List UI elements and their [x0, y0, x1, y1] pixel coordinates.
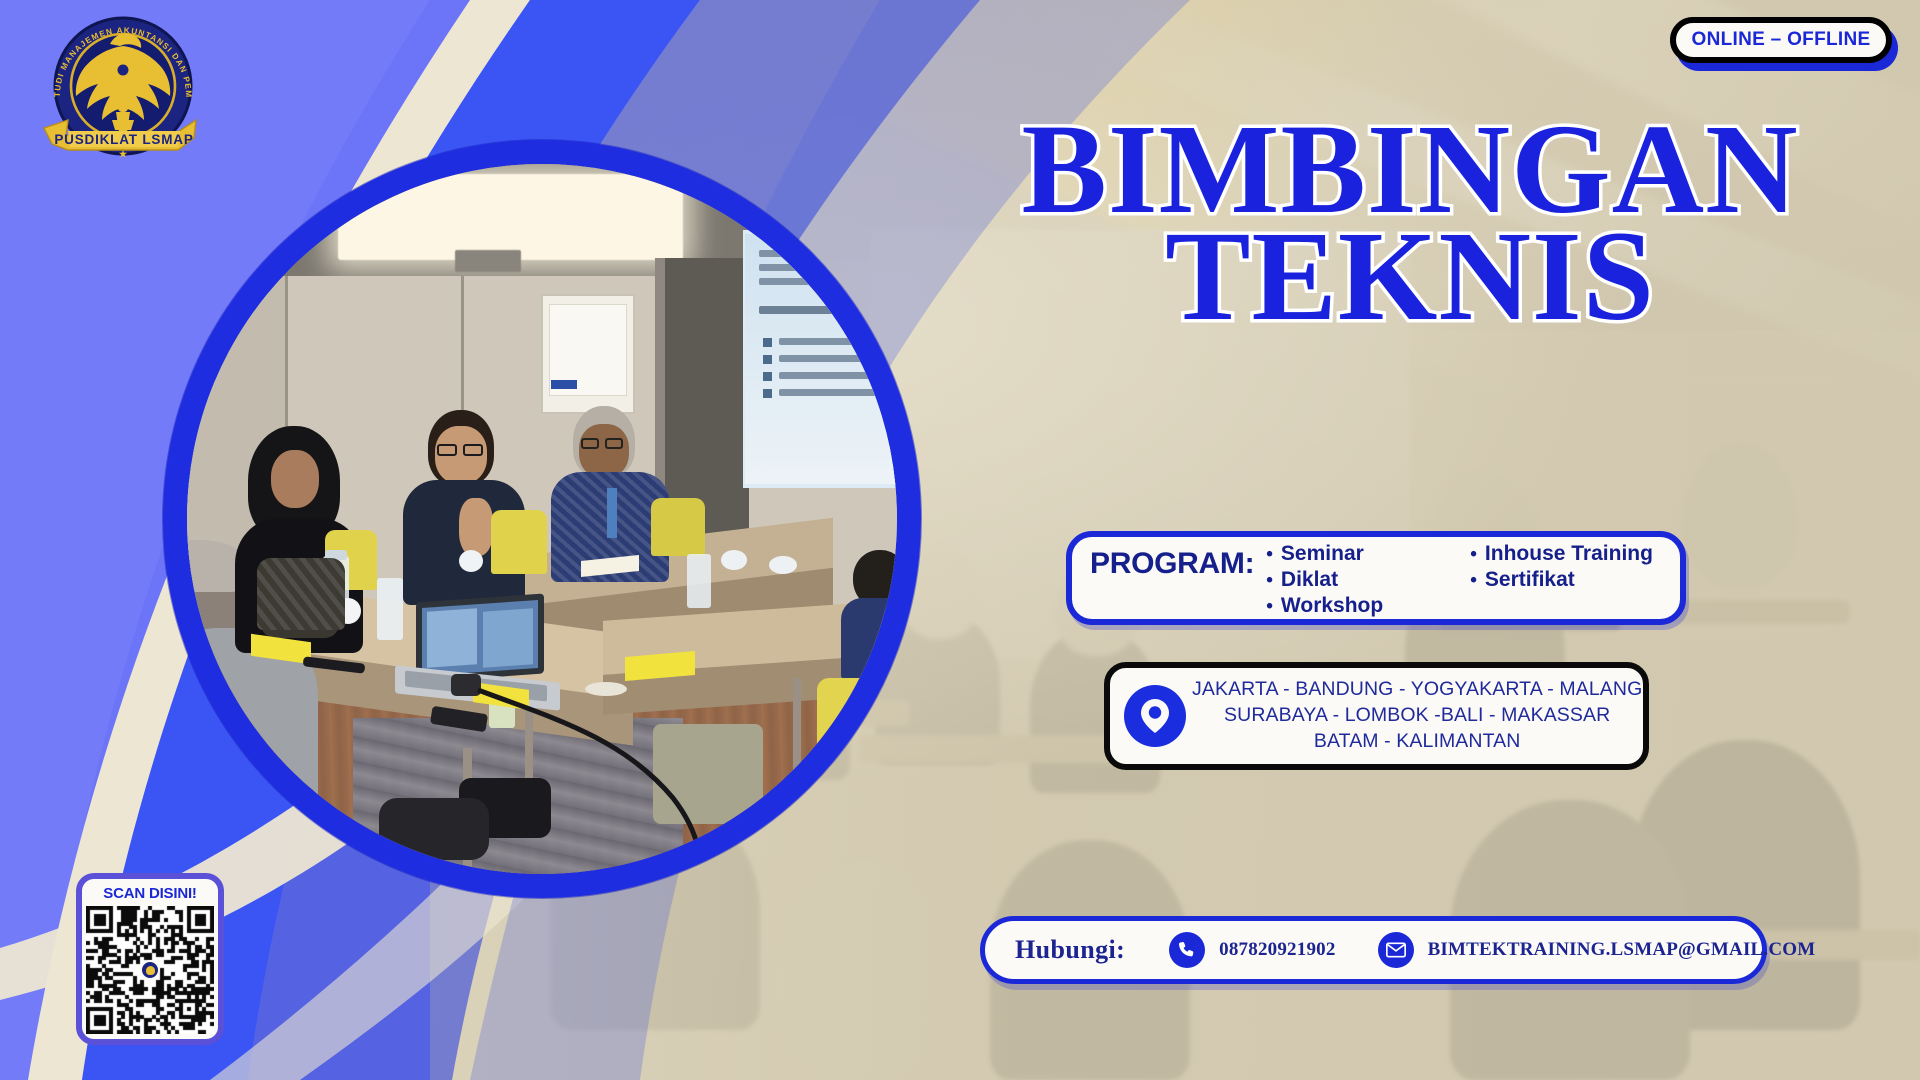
- program-item-label: Diklat: [1281, 568, 1338, 592]
- program-box: PROGRAM: • Seminar • Diklat • Workshop •: [1066, 531, 1686, 625]
- contact-email[interactable]: BIMTEKTRAINING.LSMAP@GMAIL.COM: [1378, 932, 1816, 968]
- program-item: • Sertifikat: [1470, 568, 1653, 592]
- qr-caption: SCAN DISINI!: [103, 885, 196, 902]
- envelope-icon: [1378, 932, 1414, 968]
- program-column-2: • Inhouse Training • Sertifikat: [1470, 542, 1653, 618]
- contact-bar: Hubungi: 087820921902 BIMTEKTRAINING.LSM…: [980, 916, 1767, 984]
- qr-center-logo-icon: [140, 960, 160, 980]
- badge-label: ONLINE – OFFLINE: [1692, 29, 1871, 51]
- program-item-label: Workshop: [1281, 594, 1383, 618]
- qr-card[interactable]: SCAN DISINI!: [76, 873, 224, 1045]
- program-item-label: Seminar: [1281, 542, 1364, 566]
- hero-photo: [187, 164, 897, 874]
- qr-code[interactable]: [86, 906, 214, 1034]
- bullet-icon: •: [1470, 571, 1477, 590]
- program-item: • Inhouse Training: [1470, 542, 1653, 566]
- program-item: • Workshop: [1266, 594, 1462, 618]
- phone-number: 087820921902: [1219, 939, 1335, 961]
- location-line: BATAM - KALIMANTAN: [1192, 729, 1642, 755]
- program-item-label: Inhouse Training: [1485, 542, 1653, 566]
- program-item: • Seminar: [1266, 542, 1462, 566]
- location-line: JAKARTA - BANDUNG - YOGYAKARTA - MALANG: [1192, 677, 1642, 703]
- program-item-label: Sertifikat: [1485, 568, 1575, 592]
- program-label: PROGRAM:: [1090, 547, 1254, 581]
- lsmap-logo: LEMBAGA STUDI MANAJEMEN AKUNTANSI DAN PE…: [38, 8, 208, 170]
- bullet-icon: •: [1266, 545, 1273, 564]
- hero-photo-ring: [163, 140, 921, 898]
- online-offline-badge[interactable]: ONLINE – OFFLINE: [1670, 17, 1892, 63]
- locations-box: JAKARTA - BANDUNG - YOGYAKARTA - MALANG …: [1104, 662, 1649, 770]
- bullet-icon: •: [1266, 571, 1273, 590]
- poster-canvas: LEMBAGA STUDI MANAJEMEN AKUNTANSI DAN PE…: [0, 0, 1920, 1080]
- phone-icon: [1169, 932, 1205, 968]
- contact-phone[interactable]: 087820921902: [1169, 932, 1335, 968]
- logo-ribbon-text: PUSDIKLAT LSMAP: [54, 132, 193, 147]
- email-address: BIMTEKTRAINING.LSMAP@GMAIL.COM: [1428, 939, 1816, 961]
- program-item: • Diklat: [1266, 568, 1462, 592]
- location-pin-icon: [1124, 685, 1186, 747]
- program-column-1: • Seminar • Diklat • Workshop: [1266, 542, 1462, 618]
- bullet-icon: •: [1266, 597, 1273, 616]
- poster-title: BIMBINGAN TEKNIS: [905, 108, 1915, 338]
- location-line: SURABAYA - LOMBOK -BALI - MAKASSAR: [1192, 703, 1642, 729]
- contact-label: Hubungi:: [1015, 935, 1125, 965]
- bullet-icon: •: [1470, 545, 1477, 564]
